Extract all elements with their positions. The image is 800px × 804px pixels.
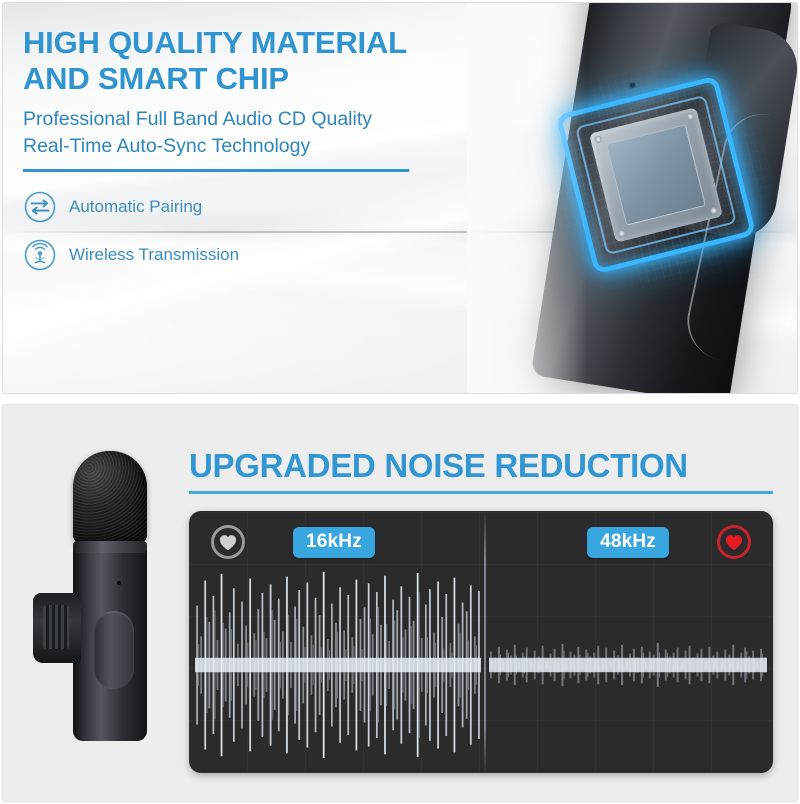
feature-automatic-pairing: Automatic Pairing <box>23 190 523 224</box>
microphone-collar <box>73 541 147 553</box>
top-panel-subtitle: Professional Full Band Audio CD Quality … <box>23 106 523 161</box>
badge-16khz: 16kHz <box>293 527 375 558</box>
frequency-badge-row: 16kHz 48kHz <box>189 525 773 559</box>
heading-underline <box>189 491 773 494</box>
audio-waveform-chart <box>189 557 773 773</box>
product-marketing-image: HIGH QUALITY MATERIAL AND SMART CHIP Pro… <box>0 0 800 804</box>
panel-upgraded-noise-reduction: UPGRADED NOISE REDUCTION 16kHz 48k <box>2 404 798 802</box>
microphone-led-pinhole <box>117 581 121 585</box>
wireless-broadcast-icon <box>23 238 57 272</box>
lavalier-microphone-photo <box>31 443 181 743</box>
heart-icon-grey <box>219 534 237 551</box>
waveform-divider-line <box>484 511 486 773</box>
waveform-series-16khz <box>195 572 481 758</box>
feature-wireless-transmission: Wireless Transmission <box>23 238 523 272</box>
title-line-1: HIGH QUALITY MATERIAL <box>23 25 523 61</box>
microphone-foam-windscreen <box>73 451 147 543</box>
top-panel-title: HIGH QUALITY MATERIAL AND SMART CHIP <box>23 25 523 98</box>
panel-high-quality-material: HIGH QUALITY MATERIAL AND SMART CHIP Pro… <box>2 2 798 394</box>
microphone-button <box>94 611 134 689</box>
waveform-display-panel: 16kHz 48kHz <box>189 511 773 773</box>
badge-48khz: 48kHz <box>587 527 669 558</box>
top-panel-text-block: HIGH QUALITY MATERIAL AND SMART CHIP Pro… <box>23 25 523 286</box>
heart-icon-red <box>725 534 743 551</box>
clip-grooves <box>43 605 69 649</box>
title-line-2: AND SMART CHIP <box>23 61 523 97</box>
exchange-arrows-icon <box>23 190 57 224</box>
heart-icon-grey-container <box>211 525 245 559</box>
waveform-series-48khz <box>489 643 767 687</box>
heart-icon-red-container <box>717 525 751 559</box>
blue-divider <box>23 169 409 172</box>
feature-label: Automatic Pairing <box>69 197 202 217</box>
subtitle-line-2: Real-Time Auto-Sync Technology <box>23 133 523 161</box>
feature-label: Wireless Transmission <box>69 245 239 265</box>
subtitle-line-1: Professional Full Band Audio CD Quality <box>23 106 523 134</box>
bottom-panel-heading: UPGRADED NOISE REDUCTION <box>189 447 688 485</box>
feature-list: Automatic Pairing Wireless Transmission <box>23 190 523 272</box>
